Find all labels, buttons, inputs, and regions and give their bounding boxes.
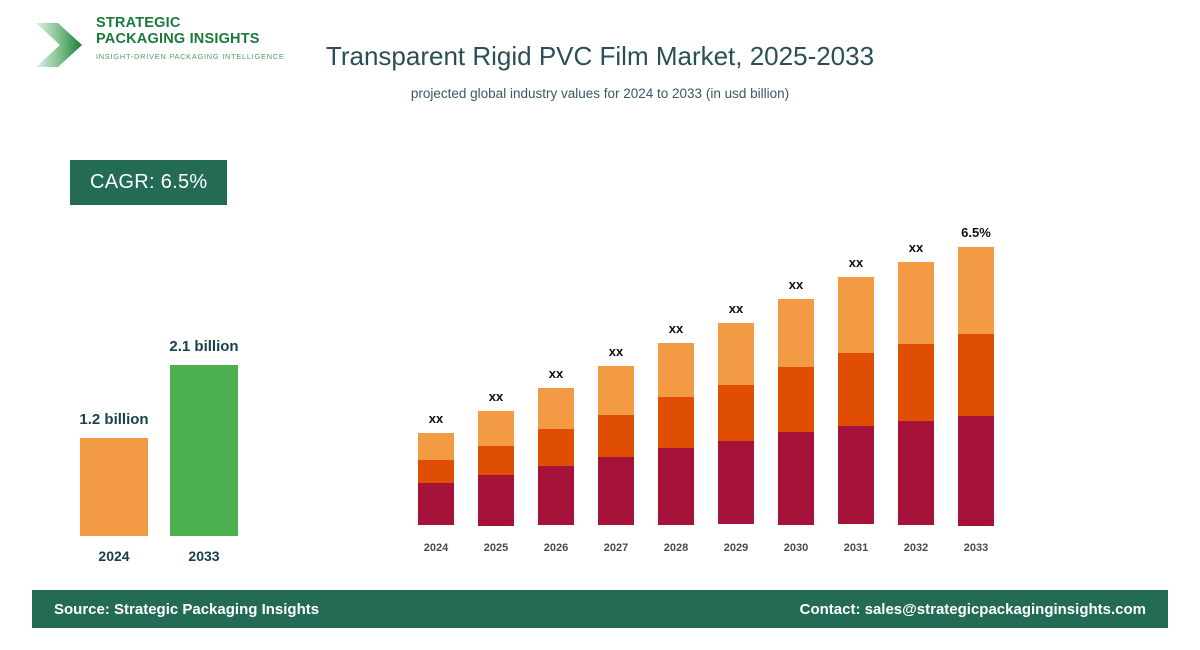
- stacked-top-label-2025: xx: [466, 389, 526, 404]
- stacked-bar-2032: [898, 262, 934, 525]
- bar-segment-segment-3: [658, 343, 694, 397]
- stacked-top-label-2032: xx: [886, 240, 946, 255]
- stacked-year-label-2032: 2032: [892, 542, 940, 554]
- bar-segment-segment-2: [958, 334, 994, 416]
- endpoint-year-label-2024: 2024: [80, 548, 148, 564]
- stacked-top-label-2026: xx: [526, 366, 586, 381]
- stacked-bar-2030: [778, 299, 814, 525]
- stacked-year-label-2033: 2033: [952, 542, 1000, 554]
- bar-segment-segment-3: [718, 323, 754, 385]
- brand-logo-line1: STRATEGIC: [96, 16, 285, 32]
- stacked-forecast-chart: xx2024xx2025xx2026xx2027xx2028xx2029xx20…: [400, 190, 1020, 560]
- brand-logo: STRATEGIC PACKAGING INSIGHTS INSIGHT-DRI…: [34, 16, 264, 78]
- bar-segment-segment-2: [658, 397, 694, 448]
- bar-segment-segment-3: [838, 277, 874, 353]
- bar-rect: [80, 438, 148, 536]
- bar-segment-segment-2: [898, 344, 934, 421]
- stacked-top-label-2029: xx: [706, 301, 766, 316]
- bar-segment-segment-3: [538, 388, 574, 429]
- stacked-top-label-2031: xx: [826, 255, 886, 270]
- bar-segment-segment-3: [598, 366, 634, 415]
- footer-contact-text: Contact: sales@strategicpackaginginsight…: [800, 601, 1146, 618]
- bar-rect: [170, 365, 238, 536]
- bar-segment-segment-2: [718, 385, 754, 441]
- bar-segment-segment-1: [418, 483, 454, 525]
- page-subtitle: projected global industry values for 202…: [300, 86, 900, 101]
- stacked-year-label-2027: 2027: [592, 542, 640, 554]
- bar-segment-segment-2: [778, 367, 814, 432]
- bar-segment-segment-3: [778, 299, 814, 367]
- stacked-bar-2029: [718, 323, 754, 525]
- endpoint-value-label-2033: 2.1 billion: [124, 338, 284, 355]
- endpoint-comparison-chart: 1.2 billion20242.1 billion2033: [50, 300, 290, 570]
- bar-segment-segment-1: [538, 466, 574, 525]
- stacked-year-label-2028: 2028: [652, 542, 700, 554]
- stacked-bar-2033: [958, 247, 994, 525]
- endpoint-bar-2033: [170, 365, 238, 536]
- stacked-bar-2028: [658, 343, 694, 525]
- stacked-bar-2025: [478, 411, 514, 525]
- stacked-year-label-2029: 2029: [712, 542, 760, 554]
- stacked-top-label-2024: xx: [406, 411, 466, 426]
- stacked-top-label-2028: xx: [646, 321, 706, 336]
- page-title: Transparent Rigid PVC Film Market, 2025-…: [300, 38, 900, 74]
- stacked-year-label-2031: 2031: [832, 542, 880, 554]
- footer-source-text: Source: Strategic Packaging Insights: [54, 601, 319, 618]
- footer-bar: Source: Strategic Packaging Insights Con…: [32, 590, 1168, 628]
- cagr-badge: CAGR: 6.5%: [70, 160, 227, 205]
- bar-segment-segment-2: [598, 415, 634, 457]
- bar-segment-segment-2: [538, 429, 574, 466]
- stacked-top-label-2027: xx: [586, 344, 646, 359]
- bar-segment-segment-1: [658, 448, 694, 525]
- stacked-top-label-2033: 6.5%: [946, 225, 1006, 240]
- bar-segment-segment-1: [718, 441, 754, 524]
- endpoint-year-label-2033: 2033: [170, 548, 238, 564]
- stacked-year-label-2024: 2024: [412, 542, 460, 554]
- bar-segment-segment-3: [478, 411, 514, 446]
- endpoint-bar-2024: [80, 438, 148, 536]
- bar-segment-segment-2: [478, 446, 514, 475]
- stacked-year-label-2025: 2025: [472, 542, 520, 554]
- bar-segment-segment-1: [778, 432, 814, 525]
- bar-segment-segment-2: [418, 460, 454, 483]
- stacked-year-label-2030: 2030: [772, 542, 820, 554]
- stacked-bar-2031: [838, 277, 874, 525]
- brand-logo-tagline: INSIGHT-DRIVEN PACKAGING INTELLIGENCE: [96, 52, 285, 61]
- stacked-bar-2026: [538, 388, 574, 525]
- stacked-top-label-2030: xx: [766, 277, 826, 292]
- bar-segment-segment-3: [958, 247, 994, 334]
- stacked-bar-2024: [418, 433, 454, 525]
- stacked-year-label-2026: 2026: [532, 542, 580, 554]
- bar-segment-segment-2: [838, 353, 874, 426]
- bar-segment-segment-1: [478, 475, 514, 526]
- brand-logo-line2: PACKAGING INSIGHTS: [96, 32, 285, 48]
- title-block: Transparent Rigid PVC Film Market, 2025-…: [300, 38, 900, 101]
- bar-segment-segment-1: [958, 416, 994, 526]
- chevron-right-icon: [34, 20, 86, 70]
- bar-segment-segment-1: [898, 421, 934, 525]
- bar-segment-segment-3: [898, 262, 934, 344]
- brand-logo-text: STRATEGIC PACKAGING INSIGHTS INSIGHT-DRI…: [96, 16, 285, 61]
- stacked-bar-2027: [598, 366, 634, 525]
- bar-segment-segment-1: [838, 426, 874, 524]
- bar-segment-segment-1: [598, 457, 634, 525]
- bar-segment-segment-3: [418, 433, 454, 460]
